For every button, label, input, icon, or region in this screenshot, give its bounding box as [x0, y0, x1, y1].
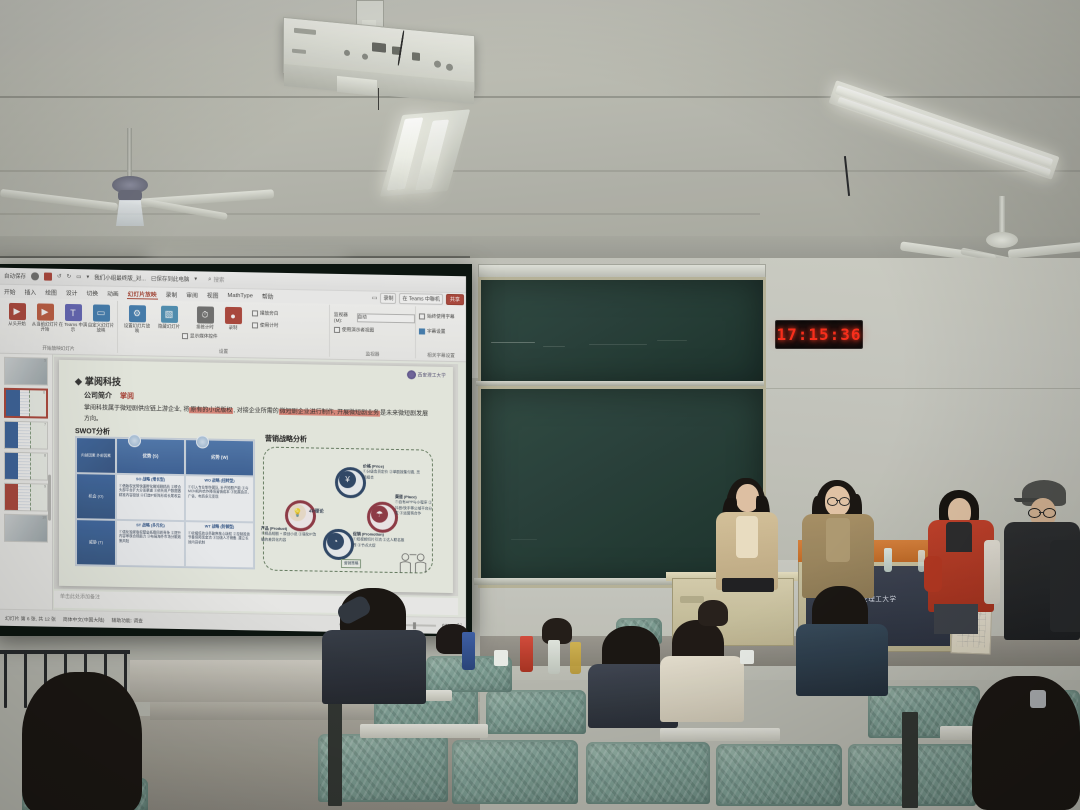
swot-row-header-t: 威胁 (T)	[76, 519, 116, 566]
rehearse-timings-label: 排练计时	[196, 324, 214, 329]
checkbox-label: 使用演示者视图	[342, 327, 374, 334]
swot-cell-text: ①引入专业制作团队, 补齐短剧产能 ②与MCN机构合作降低营销成本 ③拓展会员、…	[188, 485, 251, 499]
search-placeholder: 搜索	[214, 276, 225, 284]
swot-cell-text: ①强化独家版权壁垒抵御同质竞争 ②提升内容审核合规能力 ③布局海外市场分散政策风…	[119, 529, 181, 543]
marketing-footer: 营销策略	[341, 559, 361, 569]
slide-subtitle: 公司简介 掌阅	[84, 390, 134, 401]
seat	[716, 744, 842, 806]
teams-online-button[interactable]: 在 Teams 中聯机	[399, 293, 443, 305]
swot-cell-label: SO 战略 (增长型)	[119, 477, 182, 484]
play-from-start-button[interactable]: ▶ 从头开始	[2, 303, 32, 327]
ceiling-fan-right-hub	[986, 232, 1018, 248]
ceiling-fan-left-hub	[118, 190, 142, 201]
desk-item	[680, 596, 704, 603]
swot-cell-text: ①收缩低效业务聚焦核心版权 ②控制投放节奏保障现金流 ③加强人才储备, 建立长效…	[188, 531, 250, 545]
search-box[interactable]: ⌕ 搜索	[208, 276, 224, 284]
file-state-chevron-icon[interactable]: ▾	[194, 276, 197, 282]
presenter-1-pants	[722, 578, 774, 592]
slide-title: ◆掌阅科技	[75, 374, 121, 388]
ceiling-seam	[0, 170, 1080, 172]
avatar	[196, 435, 209, 448]
audience-member-torso	[796, 624, 888, 696]
audience-member-torso	[660, 656, 744, 722]
hair-clip	[1030, 690, 1046, 708]
hide-slide-icon: ▧	[161, 306, 178, 323]
autosave-toggle-icon[interactable]	[31, 272, 39, 280]
university-name: 西安理工大学	[418, 372, 446, 379]
slide-title-text: 掌阅科技	[85, 376, 121, 387]
swot-cell-label: WO 战略 (扭转型)	[188, 478, 251, 485]
desk-side	[328, 700, 342, 806]
checkbox-always-captions[interactable]: 始终使用字幕	[419, 313, 455, 320]
label-price-text: ①分级会员定价 ②单剧按集付费, 灵活组合	[363, 470, 420, 480]
teams-icon: T	[65, 304, 82, 321]
presenter-3-sleeve	[984, 540, 1000, 604]
tab-view[interactable]: 视图	[206, 291, 220, 300]
body-part-2: , 对接企业所需的	[233, 408, 278, 415]
presenter-4-arm	[1050, 540, 1080, 632]
list-item[interactable]: 6	[4, 388, 48, 419]
label-price-title: 价格 (Price)	[363, 463, 384, 468]
ceiling-seam	[0, 213, 760, 215]
ribbon-group-start-slideshow: ▶ 从头开始 ▶ 从当前幻灯片开始 T 在 Teams 中演示 ▭ 自定义幻灯片…	[0, 299, 118, 353]
audience-member	[972, 676, 1080, 810]
checkbox-label: 使用计时	[260, 322, 278, 328]
swot-cell-st: ST 战略 (多元化) ①强化独家版权壁垒抵御同质竞争 ②提升内容审核合规能力 …	[116, 520, 185, 567]
slide-canvas[interactable]: 西安理工大学 ◆掌阅科技 公司简介 掌阅 掌阅科技属于微短剧供应链上游企业, 将…	[54, 357, 458, 596]
list-item[interactable]: 8	[4, 452, 48, 481]
play-from-start-icon: ▶	[9, 303, 26, 320]
tab-design[interactable]: 设计	[65, 288, 79, 297]
people-icon	[396, 550, 430, 575]
monitor-combo-label: 监视器(M):	[334, 312, 355, 323]
ribbon-group-label: 设置	[118, 347, 329, 357]
body-highlight-1: 原有的小说版权	[189, 407, 233, 414]
tab-record[interactable]: 录制	[165, 290, 179, 299]
tab-insert[interactable]: 插入	[24, 287, 38, 296]
caption-settings-button[interactable]: 字幕设置	[419, 328, 445, 334]
label-product: 产品 (Product) ①精品短剧 + 原创小说 ②强化IP改编的差异化内容	[261, 526, 317, 544]
audience-member	[698, 600, 728, 626]
autosave-label[interactable]: 自动保存	[4, 272, 26, 280]
node-promotion: ◔	[327, 533, 344, 550]
swot-cell-wt: WT 战略 (防御型) ①收缩低效业务聚焦核心版权 ②控制投放节奏保障现金流 ③…	[185, 521, 254, 568]
checkbox-presenter-view[interactable]: 使用演示者视图	[334, 327, 374, 334]
desk-surface	[660, 728, 780, 741]
bullet-diamond-icon: ◆	[75, 376, 82, 386]
ribbon-group-label: 相关字幕设置	[416, 352, 466, 359]
hide-slide-button[interactable]: ▧ 隐藏幻灯片	[154, 306, 184, 330]
slide-6[interactable]: 西安理工大学 ◆掌阅科技 公司简介 掌阅 掌阅科技属于微短剧供应链上游企业, 将…	[59, 360, 453, 593]
clock-time: 17:15:36	[776, 325, 861, 344]
rehearse-timings-icon: ⏱	[197, 306, 214, 323]
university-seal-icon	[407, 370, 416, 379]
list-item[interactable]: 10	[4, 514, 48, 543]
wall-seam	[760, 388, 1080, 389]
setup-show-icon: ⚙	[129, 305, 146, 322]
marketing-strategy-diagram: 营销战略分析 ¥ 价格 (Price) ①分级会员定价 ②单剧按集付费, 灵活组…	[263, 434, 433, 577]
teams-present-button[interactable]: T 在 Teams 中演示	[58, 304, 88, 333]
label-place-text: ①自有APP与小程序 ②抖音/快手等公域平台分发 ③运营商合作	[395, 500, 432, 515]
customize-qat-icon[interactable]: ▾	[86, 274, 89, 280]
teams-present-label: 在 Teams 中演示	[58, 322, 88, 333]
label-price: 价格 (Price) ①分级会员定价 ②单剧按集付费, 灵活组合	[363, 463, 423, 481]
swot-cell-wo: WO 战略 (扭转型) ①引入专业制作团队, 补齐短剧产能 ②与MCN机构合作降…	[185, 475, 254, 522]
undo-icon[interactable]: ↺	[57, 274, 62, 280]
redo-icon[interactable]: ↻	[67, 274, 72, 280]
ribbon[interactable]: ▶ 从头开始 ▶ 从当前幻灯片开始 T 在 Teams 中演示 ▭ 自定义幻灯片…	[0, 298, 466, 363]
tab-transitions[interactable]: 切换	[85, 288, 99, 297]
seat	[486, 690, 586, 734]
thumb-number: 7	[44, 423, 46, 427]
play-current-label: 从当前幻灯片开始	[30, 321, 60, 332]
checkbox-label: 显示媒体控件	[190, 333, 218, 340]
label-place-title: 渠道 (Place)	[395, 494, 417, 499]
caption-settings-label: 字幕设置	[427, 329, 445, 335]
presenter-3-pants	[934, 604, 978, 634]
beverage-bottle	[570, 642, 581, 674]
water-bottle	[548, 640, 560, 674]
body-part-1: 掌阅科技属于微短剧供应链上游企业, 将	[84, 405, 189, 413]
slide-body-text: 掌阅科技属于微短剧供应链上游企业, 将原有的小说版权, 对接企业所需的微短剧企业…	[84, 403, 430, 430]
tab-start[interactable]: 开始	[3, 287, 17, 296]
custom-show-icon: ▭	[93, 304, 110, 321]
avatar	[128, 434, 141, 447]
projector-cable	[378, 88, 379, 110]
marketing-center-label: 4P理论	[309, 508, 324, 514]
ribbon-group-label: 监视器	[330, 351, 415, 359]
custom-show-button[interactable]: ▭ 自定义幻灯片放映	[86, 304, 116, 333]
paper-cup	[494, 650, 508, 666]
list-item[interactable]: 9	[4, 483, 48, 512]
node-place: ☂	[371, 506, 388, 523]
record-slideshow-button[interactable]: ● 录制	[218, 307, 248, 331]
water-bottle	[462, 632, 475, 670]
swot-col-header-w: 劣势 (W)	[185, 439, 254, 476]
record-button[interactable]: 录制	[380, 293, 396, 304]
swot-row-header-o: 机会 (O)	[76, 473, 116, 520]
play-current-icon: ▶	[37, 303, 54, 320]
tab-slide-show[interactable]: 幻灯片放映	[127, 289, 158, 300]
label-promotion-text: ①短视频切片引流 ②达人联名推荐 ③节点大促	[353, 538, 404, 548]
swot-cell-so: SO 战略 (增长型) ①借版权优势快速孵化微短剧精品 ②联合头部平台扩大分发渠…	[116, 474, 185, 521]
swot-cell-label: ST 战略 (多元化)	[119, 523, 182, 530]
label-place: 渠道 (Place) ①自有APP与小程序 ②抖音/快手等公域平台分发 ③运营商…	[395, 494, 433, 517]
label-product-title: 产品 (Product)	[261, 526, 287, 531]
swot-matrix: 内部因素 外部因素 优势 (S) 劣势 (W) 机会 (O) SO 战略 (增长…	[75, 436, 255, 569]
slide-counter: 幻灯片 第 6 张, 共 12 张	[5, 614, 56, 622]
tab-mathtype[interactable]: MathType	[226, 292, 253, 299]
caption-settings-icon	[419, 328, 425, 334]
record-label: 录制	[229, 325, 238, 330]
slide-subtitle-text: 公司简介	[84, 392, 112, 400]
brand-name: 掌阅	[120, 393, 134, 400]
audience-member-torso	[322, 630, 426, 704]
audience-member	[22, 672, 142, 810]
thumbnail-scrollbar[interactable]	[48, 475, 51, 521]
tab-help[interactable]: 帮助	[261, 292, 275, 301]
monitor-combo-value[interactable]: 自动	[357, 313, 415, 323]
list-item[interactable]: 7	[4, 421, 48, 450]
checkbox-play-narration[interactable]: 播放旁白	[252, 310, 278, 316]
seat	[586, 742, 710, 804]
beverage-can	[520, 636, 533, 672]
ribbon-group-setup: ⚙ 设置幻灯片放映 ▧ 隐藏幻灯片 ⏱ 排练计时 ● 录制 播放旁白	[118, 301, 330, 357]
swot-cell-label: WT 战略 (防御型)	[188, 524, 251, 531]
ceiling-fan-left-light	[116, 200, 144, 226]
accessibility-indicator[interactable]: 辅助功能: 调查	[112, 616, 143, 624]
digital-wall-clock: 17:15:36	[775, 320, 863, 349]
desk-side	[902, 712, 918, 808]
presenter-3-arm	[924, 556, 942, 592]
tab-animations[interactable]: 动画	[106, 289, 120, 298]
ribbon-group-monitor: 监视器(M): 自动 使用演示者视图 监视器	[330, 305, 416, 359]
thumb-number: 9	[44, 485, 46, 489]
thumb-number: 10	[42, 516, 46, 520]
powerpoint-window[interactable]: 自动保存 ↺ ↻ ▭ ▾ 我们小组最终版_对... 已保存到此电脑 ▾ ⌕ 搜索…	[0, 268, 466, 635]
node-product: 💡	[289, 504, 306, 521]
ribbon-group-label: 开始放映幻灯片	[0, 345, 117, 353]
slideshow-icon[interactable]: ▭	[76, 274, 81, 280]
swot-heading: SWOT分析	[75, 426, 110, 437]
ceiling-fan-left-rod	[127, 128, 132, 180]
checkbox-icon	[252, 322, 258, 328]
record-icon: ●	[225, 307, 242, 324]
notes-placeholder: 单击此处添加备注	[60, 594, 100, 601]
checkbox-use-timings[interactable]: 使用计时	[252, 322, 278, 328]
thumb-number: 6	[43, 391, 45, 395]
label-promotion-title: 促销 (Promotion)	[353, 531, 384, 537]
thumb-number: 8	[44, 454, 46, 458]
hide-slide-label: 隐藏幻灯片	[158, 324, 180, 329]
seat	[452, 740, 578, 804]
checkbox-label: 播放旁白	[260, 310, 278, 316]
save-icon[interactable]	[44, 273, 52, 281]
university-logo: 西安理工大学	[407, 370, 446, 380]
rehearse-timings-button[interactable]: ⏱ 排练计时	[190, 306, 220, 330]
play-current-button[interactable]: ▶ 从当前幻灯片开始	[30, 303, 60, 332]
tab-draw[interactable]: 绘图	[44, 288, 58, 297]
swot-col-header-s: 优势 (S)	[116, 438, 185, 475]
checkbox-icon	[182, 333, 188, 339]
share-button[interactable]: 共享	[446, 294, 464, 305]
swot-corner-header: 内部因素 外部因素	[76, 437, 116, 474]
swot-cell-text: ①借版权优势快速孵化微短剧精品 ②联合头部平台扩大分发渠道 ③依托用户数据做精准…	[119, 483, 181, 498]
list-item[interactable]: 5	[4, 357, 48, 386]
blackboard-panel-upper	[478, 277, 766, 389]
paper-cup	[740, 650, 754, 664]
setup-show-button[interactable]: ⚙ 设置幻灯片放映	[122, 305, 152, 334]
thumb-number: 5	[44, 359, 46, 363]
monitor-combo[interactable]: 监视器(M): 自动	[334, 312, 415, 324]
label-product-text: ①精品短剧 + 原创小说 ②强化IP改编的差异化内容	[261, 532, 316, 542]
marketing-heading: 营销战略分析	[265, 434, 307, 445]
play-from-start-label: 从头开始	[8, 321, 26, 326]
ceiling-seam	[0, 96, 1080, 98]
setup-show-label: 设置幻灯片放映	[122, 323, 152, 334]
body-highlight-2: 微短剧企业进行制作, 开展微短剧业务	[279, 409, 380, 417]
slide-thumbnail-panel[interactable]: 5 6 7 8 9	[0, 354, 53, 627]
file-state: 已保存到此电脑	[151, 274, 190, 283]
label-promotion: 促销 (Promotion) ①短视频切片引流 ②达人联名推荐 ③节点大促	[353, 531, 407, 549]
checkbox-label: 始终使用字幕	[427, 314, 455, 321]
checkbox-icon	[334, 327, 340, 333]
checkbox-show-media-controls[interactable]: 显示媒体控件	[182, 333, 218, 340]
desk-surface	[360, 724, 488, 738]
search-icon: ⌕	[208, 276, 211, 283]
ribbon-right-controls[interactable]: ▭ 录制 在 Teams 中聯机 共享	[372, 293, 464, 306]
file-name: 我们小组最终版_对...	[94, 273, 146, 282]
tab-review[interactable]: 审阅	[185, 290, 199, 299]
language-indicator[interactable]: 简体中文(中国大陆)	[63, 615, 105, 623]
ribbon-group-captions: 始终使用字幕 字幕设置 相关字幕设置	[416, 306, 466, 359]
checkbox-icon	[419, 313, 425, 319]
lecture-hall-photo: 17:15:36 自动保存 ↺ ↻ ▭ ▾ 我们小组最终版_对... 已保存到此…	[0, 0, 1080, 810]
node-price: ¥	[339, 471, 356, 488]
comments-icon[interactable]: ▭	[372, 295, 378, 302]
custom-show-label: 自定义幻灯片放映	[86, 322, 116, 333]
water-bottle	[884, 548, 892, 572]
checkbox-icon	[252, 310, 258, 316]
